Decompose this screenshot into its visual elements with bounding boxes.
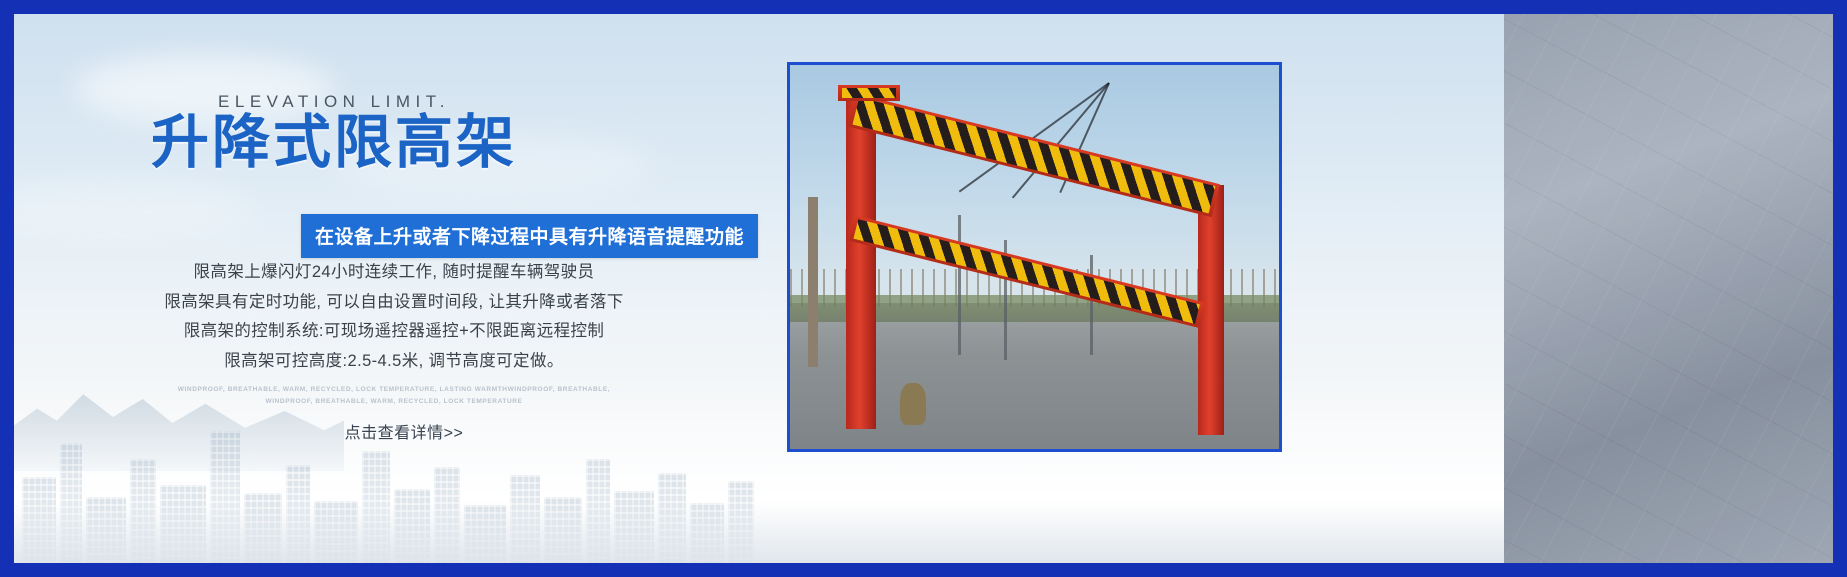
microtext-line: WINDPROOF, BREATHABLE, WARM, RECYCLED, L… [14, 396, 774, 408]
list-item: 限高架上爆闪灯24小时连续工作, 随时提醒车辆驾驶员 [14, 257, 774, 287]
view-details-link[interactable]: 点击查看详情>> [14, 419, 794, 443]
content-panel: ELEVATION LIMIT. 升降式限高架 在设备上升或者下降过程中具有升降… [14, 14, 1504, 563]
gantry-beam-top-cap [838, 85, 900, 101]
list-item: 限高架可控高度:2.5-4.5米, 调节高度可定做。 [14, 346, 774, 376]
promo-banner: ELEVATION LIMIT. 升降式限高架 在设备上升或者下降过程中具有升降… [0, 0, 1847, 577]
eyebrow-text: ELEVATION LIMIT. [14, 92, 654, 112]
page-title: 升降式限高架 [14, 114, 654, 172]
copy-block: ELEVATION LIMIT. 升降式限高架 在设备上升或者下降过程中具有升降… [14, 14, 804, 563]
bare-tree [808, 197, 818, 367]
utility-pole [958, 215, 961, 355]
chevron-stripes [842, 88, 896, 98]
gantry-column-left [846, 99, 876, 429]
frame-edge-bottom [0, 563, 1847, 577]
decorative-microtext: WINDPROOF, BREATHABLE, WARM, RECYCLED, L… [14, 384, 774, 409]
microtext-line: WINDPROOF, BREATHABLE, WARM, RECYCLED, L… [14, 384, 774, 396]
product-photo[interactable] [787, 62, 1282, 452]
frame-edge-top [0, 0, 1847, 14]
list-item: 限高架具有定时功能, 可以自由设置时间段, 让其升降或者落下 [14, 287, 774, 317]
list-item: 限高架的控制系统:可现场遥控器遥控+不限距离远程控制 [14, 316, 774, 346]
frame-edge-left [0, 0, 14, 577]
feature-list: 限高架上爆闪灯24小时连续工作, 随时提醒车辆驾驶员 限高架具有定时功能, 可以… [14, 257, 774, 375]
utility-pole [1090, 255, 1093, 355]
highlight-bar: 在设备上升或者下降过程中具有升降语音提醒功能 [301, 214, 758, 258]
worker-figure [900, 383, 926, 425]
frame-edge-right [1833, 0, 1847, 577]
